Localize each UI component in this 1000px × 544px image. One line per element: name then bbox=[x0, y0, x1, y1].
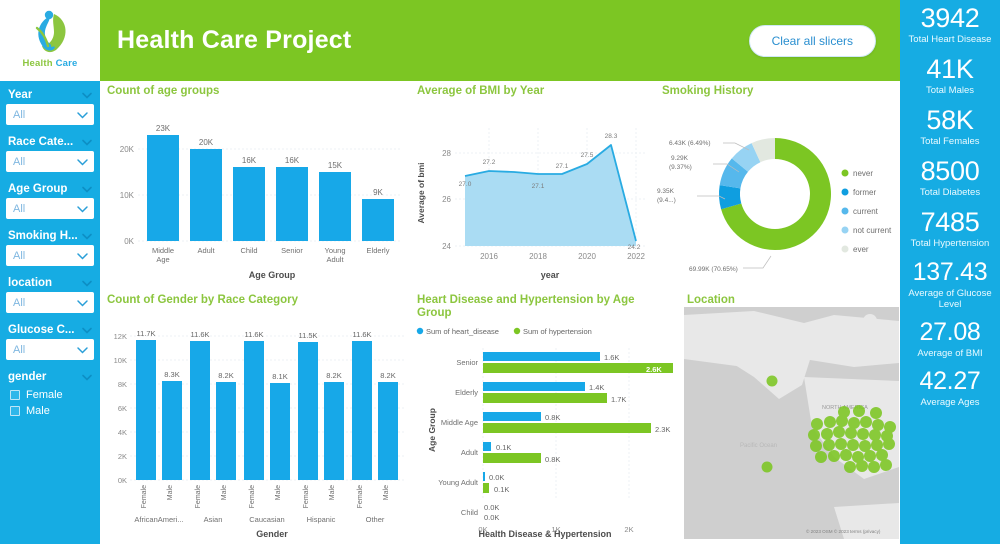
svg-text:69.99K (70.65%): 69.99K (70.65%) bbox=[689, 266, 738, 273]
svg-text:Adult: Adult bbox=[461, 448, 479, 457]
slicer-age-group-label: Age Group bbox=[8, 183, 67, 195]
kpi-label: Total Females bbox=[900, 136, 1000, 147]
svg-text:10K: 10K bbox=[120, 191, 135, 200]
svg-text:Young: Young bbox=[325, 246, 346, 255]
slicer-location[interactable]: location All bbox=[6, 277, 94, 313]
svg-text:8.1K: 8.1K bbox=[272, 372, 287, 381]
svg-text:9.35K: 9.35K bbox=[657, 188, 675, 195]
svg-text:Child: Child bbox=[461, 508, 478, 517]
svg-text:Male: Male bbox=[167, 485, 174, 500]
map-attribution: © 2023 OSM © 2023 terms (privacy) bbox=[806, 528, 881, 534]
svg-text:not current: not current bbox=[853, 226, 892, 235]
svg-text:16K: 16K bbox=[285, 156, 300, 165]
clear-all-slicers-button[interactable]: Clear all slicers bbox=[749, 25, 876, 57]
dashboard-root: Health Care Year All bbox=[0, 0, 1000, 544]
svg-text:2.6K: 2.6K bbox=[646, 365, 662, 374]
svg-text:27.2: 27.2 bbox=[483, 159, 496, 166]
kpi-total-hypertension: 7485 Total Hypertension bbox=[900, 207, 1000, 249]
x-axis-label: Gender bbox=[256, 529, 288, 539]
svg-text:Middle: Middle bbox=[152, 246, 174, 255]
kpi-value: 137.43 bbox=[900, 257, 1000, 287]
svg-text:Adult: Adult bbox=[197, 246, 215, 255]
smoking-history-donut-chart[interactable]: 6.43K (6.49%) 9.29K (9.37%) 9.35K (9.4..… bbox=[655, 98, 900, 288]
svg-text:16K: 16K bbox=[242, 156, 257, 165]
slicer-year-dropdown[interactable]: All bbox=[6, 104, 94, 125]
location-map[interactable]: Pacific Ocean NORTH AMERICA bbox=[684, 307, 899, 539]
y-axis-label: Age Group bbox=[427, 408, 437, 452]
svg-text:Other: Other bbox=[366, 515, 385, 524]
svg-text:Male: Male bbox=[383, 485, 390, 500]
svg-text:11.5K: 11.5K bbox=[298, 331, 317, 340]
logo-wordmark: Health Care bbox=[22, 59, 77, 69]
slicer-glucose-category[interactable]: Glucose C... All bbox=[6, 324, 94, 360]
svg-text:Senior: Senior bbox=[281, 246, 303, 255]
svg-text:Male: Male bbox=[221, 485, 228, 500]
app-logo: Health Care bbox=[0, 0, 100, 81]
slicer-smoking-history[interactable]: Smoking H... All bbox=[6, 230, 94, 266]
slicer-race-category-label: Race Cate... bbox=[8, 136, 73, 148]
svg-text:Female: Female bbox=[303, 485, 310, 508]
svg-text:0.8K: 0.8K bbox=[545, 413, 560, 422]
chevron-down-icon[interactable] bbox=[81, 324, 93, 336]
slicer-location-dropdown[interactable]: All bbox=[6, 292, 94, 313]
age-groups-bar-chart[interactable]: 0K10K20K 23K20K16K 16K15K9K bbox=[100, 98, 410, 288]
header-bar: Health Care Project Clear all slicers bbox=[100, 0, 900, 81]
svg-text:current: current bbox=[853, 207, 879, 216]
svg-text:Female: Female bbox=[195, 485, 202, 508]
svg-text:Elderly: Elderly bbox=[367, 246, 390, 255]
svg-text:(9.37%): (9.37%) bbox=[669, 164, 692, 171]
chevron-down-icon[interactable] bbox=[76, 108, 89, 121]
svg-text:20K: 20K bbox=[199, 138, 214, 147]
slicer-age-group[interactable]: Age Group All bbox=[6, 183, 94, 219]
svg-text:AfricanAmeri...: AfricanAmeri... bbox=[134, 515, 183, 524]
chevron-down-icon[interactable] bbox=[76, 343, 89, 356]
visual-heart-disease-hypertension[interactable]: Heart Disease and Hypertension by Age Gr… bbox=[410, 290, 680, 544]
visual-title: Location bbox=[680, 290, 900, 307]
svg-text:4K: 4K bbox=[118, 428, 127, 437]
svg-text:27.0: 27.0 bbox=[459, 181, 472, 188]
svg-text:9K: 9K bbox=[373, 188, 383, 197]
slicer-location-label: location bbox=[8, 277, 52, 289]
kpi-value: 58K bbox=[900, 105, 1000, 135]
svg-text:11.6K: 11.6K bbox=[244, 330, 263, 339]
slicer-race-category[interactable]: Race Cate... All bbox=[6, 136, 94, 172]
svg-text:2020: 2020 bbox=[578, 252, 596, 261]
slicer-glucose-category-value: All bbox=[13, 344, 25, 356]
svg-text:Senior: Senior bbox=[456, 358, 478, 367]
logo-word-health: Health bbox=[22, 58, 52, 69]
slicer-race-category-value: All bbox=[13, 156, 25, 168]
x-axis-label: Health Disease & Hypertension bbox=[410, 529, 680, 539]
svg-text:0.0K: 0.0K bbox=[489, 473, 504, 482]
visual-title: Count of age groups bbox=[100, 81, 410, 98]
health-care-logo-icon bbox=[24, 6, 76, 58]
slicer-list: Year All Race Cate... bbox=[0, 81, 100, 419]
svg-text:Pacific Ocean: Pacific Ocean bbox=[740, 443, 777, 449]
svg-text:0.1K: 0.1K bbox=[494, 485, 509, 494]
chevron-down-icon[interactable] bbox=[81, 277, 93, 289]
svg-text:0.0K: 0.0K bbox=[484, 513, 499, 522]
svg-text:28: 28 bbox=[442, 149, 451, 158]
svg-text:26: 26 bbox=[442, 195, 451, 204]
svg-text:0.1K: 0.1K bbox=[496, 443, 511, 452]
svg-text:Middle Age: Middle Age bbox=[441, 418, 478, 427]
visual-smoking-history[interactable]: Smoking History bbox=[655, 81, 900, 290]
slicer-gender-option-female[interactable]: Female bbox=[6, 387, 94, 403]
slicer-gender-option-male-label: Male bbox=[26, 405, 50, 417]
main-area: Health Care Project Clear all slicers Co… bbox=[100, 0, 900, 544]
visual-title: Heart Disease and Hypertension by Age Gr… bbox=[410, 290, 680, 320]
kpi-average-ages: 42.27 Average Ages bbox=[900, 366, 1000, 408]
svg-text:Male: Male bbox=[275, 485, 282, 500]
svg-text:Female: Female bbox=[357, 485, 364, 508]
svg-text:8.2K: 8.2K bbox=[380, 371, 395, 380]
kpi-label: Total Hypertension bbox=[900, 238, 1000, 249]
svg-text:(9.4...): (9.4...) bbox=[657, 197, 676, 204]
svg-text:0K: 0K bbox=[124, 237, 134, 246]
svg-text:2022: 2022 bbox=[627, 252, 645, 261]
visual-count-of-age-groups[interactable]: Count of age groups 0K10K20K bbox=[100, 81, 410, 290]
svg-text:Elderly: Elderly bbox=[455, 388, 478, 397]
svg-text:ever: ever bbox=[853, 245, 869, 254]
visual-title: Count of Gender by Race Category bbox=[100, 290, 410, 307]
chevron-down-icon[interactable] bbox=[76, 249, 89, 262]
kpi-label: Average Ages bbox=[900, 397, 1000, 408]
kpi-label: Average of BMI bbox=[900, 348, 1000, 359]
svg-text:8K: 8K bbox=[118, 380, 127, 389]
svg-text:Child: Child bbox=[240, 246, 257, 255]
kpi-total-females: 58K Total Females bbox=[900, 105, 1000, 147]
svg-text:Female: Female bbox=[249, 485, 256, 508]
svg-text:former: former bbox=[853, 188, 876, 197]
svg-text:Asian: Asian bbox=[204, 515, 223, 524]
slicer-glucose-category-label: Glucose C... bbox=[8, 324, 74, 336]
kpi-label: Total Males bbox=[900, 85, 1000, 96]
svg-text:Sum of hypertension: Sum of hypertension bbox=[523, 327, 592, 336]
svg-text:2018: 2018 bbox=[529, 252, 547, 261]
chevron-down-icon[interactable] bbox=[76, 155, 89, 168]
svg-text:20K: 20K bbox=[120, 145, 135, 154]
slicer-location-value: All bbox=[13, 297, 25, 309]
y-axis-label: Average of bmi bbox=[416, 162, 426, 223]
chevron-down-icon[interactable] bbox=[81, 183, 93, 195]
svg-text:6.43K (6.49%): 6.43K (6.49%) bbox=[669, 140, 711, 147]
bmi-area-chart[interactable]: 242628 27.0 27.2 27.1 27.1 27.5 28.3 24.… bbox=[410, 98, 655, 288]
svg-text:27.1: 27.1 bbox=[532, 183, 545, 190]
svg-text:8.2K: 8.2K bbox=[218, 371, 233, 380]
svg-text:0.0K: 0.0K bbox=[484, 503, 499, 512]
kpi-label: Total Heart Disease bbox=[900, 34, 1000, 45]
slicer-age-group-value: All bbox=[13, 203, 25, 215]
chevron-down-icon[interactable] bbox=[76, 202, 89, 215]
svg-text:2.3K: 2.3K bbox=[655, 425, 670, 434]
kpi-total-diabetes: 8500 Total Diabetes bbox=[900, 156, 1000, 198]
kpi-value: 27.08 bbox=[900, 317, 1000, 347]
logo-word-care: Care bbox=[56, 58, 78, 69]
svg-text:6K: 6K bbox=[118, 404, 127, 413]
svg-text:8.3K: 8.3K bbox=[164, 370, 179, 379]
gender-race-bar-chart[interactable]: 0K2K4K 6K8K10K12K 11.7K8.3K 11.6K8.2K 11… bbox=[100, 307, 410, 543]
heart-hypertension-bar-chart[interactable]: Sum of heart_disease Sum of hypertension bbox=[410, 320, 680, 542]
x-axis-label: Age Group bbox=[249, 270, 296, 280]
visual-average-of-bmi-by-year[interactable]: Average of BMI by Year 242628 bbox=[410, 81, 655, 290]
svg-text:Age: Age bbox=[156, 255, 169, 264]
svg-text:11.6K: 11.6K bbox=[352, 330, 371, 339]
svg-text:2K: 2K bbox=[118, 452, 127, 461]
svg-text:27.5: 27.5 bbox=[581, 152, 594, 159]
svg-text:Male: Male bbox=[329, 485, 336, 500]
svg-text:23K: 23K bbox=[156, 124, 171, 133]
kpi-value: 7485 bbox=[900, 207, 1000, 237]
checkbox-icon[interactable] bbox=[10, 390, 20, 400]
svg-text:0K: 0K bbox=[118, 476, 127, 485]
svg-text:1.7K: 1.7K bbox=[611, 395, 626, 404]
slicer-year-value: All bbox=[13, 109, 25, 121]
kpi-rail: 3942 Total Heart Disease 41K Total Males… bbox=[900, 0, 1000, 544]
checkbox-icon[interactable] bbox=[10, 406, 20, 416]
svg-text:Sum of heart_disease: Sum of heart_disease bbox=[426, 327, 499, 336]
visual-title: Smoking History bbox=[655, 81, 900, 98]
svg-text:12K: 12K bbox=[114, 332, 127, 341]
kpi-label: Average of Glucose Level bbox=[900, 288, 1000, 310]
chevron-down-icon[interactable] bbox=[81, 136, 93, 148]
chevron-down-icon[interactable] bbox=[76, 296, 89, 309]
kpi-value: 42.27 bbox=[900, 366, 1000, 396]
kpi-total-heart-disease: 3942 Total Heart Disease bbox=[900, 3, 1000, 45]
svg-text:11.7K: 11.7K bbox=[136, 329, 155, 338]
slicer-year-label: Year bbox=[8, 89, 32, 101]
sidebar: Health Care Year All bbox=[0, 0, 100, 544]
kpi-total-males: 41K Total Males bbox=[900, 54, 1000, 96]
chevron-down-icon[interactable] bbox=[81, 89, 93, 101]
kpi-value: 41K bbox=[900, 54, 1000, 84]
slicer-gender-option-male[interactable]: Male bbox=[6, 403, 94, 419]
svg-text:27.1: 27.1 bbox=[556, 163, 569, 170]
svg-text:24.2: 24.2 bbox=[628, 244, 641, 251]
kpi-value: 3942 bbox=[900, 3, 1000, 33]
svg-text:Adult: Adult bbox=[326, 255, 344, 264]
svg-text:9.29K: 9.29K bbox=[671, 155, 689, 162]
slicer-gender-option-female-label: Female bbox=[26, 389, 63, 401]
svg-text:24: 24 bbox=[442, 242, 451, 251]
slicer-smoking-history-value: All bbox=[13, 250, 25, 262]
chevron-down-icon[interactable] bbox=[81, 230, 93, 242]
kpi-average-glucose-level: 137.43 Average of Glucose Level bbox=[900, 257, 1000, 310]
svg-text:never: never bbox=[853, 169, 873, 178]
svg-text:1.4K: 1.4K bbox=[589, 383, 604, 392]
slicer-age-group-dropdown[interactable]: All bbox=[6, 198, 94, 219]
svg-text:Female: Female bbox=[141, 485, 148, 508]
svg-text:Young Adult: Young Adult bbox=[438, 478, 479, 487]
visual-count-of-gender-by-race[interactable]: Count of Gender by Race Category 0K2K4K … bbox=[100, 290, 410, 544]
kpi-label: Total Diabetes bbox=[900, 187, 1000, 198]
svg-text:28.3: 28.3 bbox=[605, 133, 618, 140]
svg-text:Caucasian: Caucasian bbox=[249, 515, 284, 524]
kpi-value: 8500 bbox=[900, 156, 1000, 186]
svg-text:15K: 15K bbox=[328, 161, 343, 170]
page-title: Health Care Project bbox=[117, 26, 351, 55]
visual-title: Average of BMI by Year bbox=[410, 81, 655, 98]
slicer-glucose-category-dropdown[interactable]: All bbox=[6, 339, 94, 360]
slicer-race-category-dropdown[interactable]: All bbox=[6, 151, 94, 172]
slicer-smoking-history-label: Smoking H... bbox=[8, 230, 78, 242]
svg-text:8.2K: 8.2K bbox=[326, 371, 341, 380]
slicer-gender[interactable]: gender Female Male bbox=[6, 371, 94, 419]
svg-text:10K: 10K bbox=[114, 356, 127, 365]
slicer-gender-label: gender bbox=[8, 371, 46, 383]
visuals-grid: Count of age groups 0K10K20K bbox=[100, 81, 900, 544]
svg-text:0.8K: 0.8K bbox=[545, 455, 560, 464]
slicer-year[interactable]: Year All bbox=[6, 89, 94, 125]
slicer-smoking-history-dropdown[interactable]: All bbox=[6, 245, 94, 266]
svg-text:2016: 2016 bbox=[480, 252, 498, 261]
chevron-down-icon[interactable] bbox=[81, 371, 93, 383]
visual-location-map[interactable]: Location Pacific Ocean bbox=[680, 290, 900, 544]
kpi-average-bmi: 27.08 Average of BMI bbox=[900, 317, 1000, 359]
x-axis-label: year bbox=[541, 270, 560, 280]
svg-text:Hispanic: Hispanic bbox=[307, 515, 336, 524]
svg-text:11.6K: 11.6K bbox=[190, 330, 209, 339]
svg-text:1.6K: 1.6K bbox=[604, 353, 619, 362]
